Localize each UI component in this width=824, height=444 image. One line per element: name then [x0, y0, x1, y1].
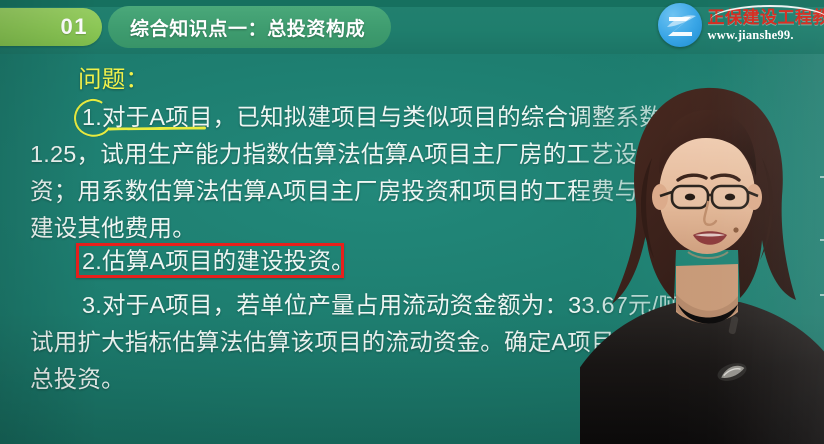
page-title: 综合知识点一：总投资构成: [130, 14, 365, 41]
question-label: 问题：: [78, 68, 149, 92]
presenter-light-shade: [580, 54, 824, 444]
video-edge-mark-2: [820, 239, 824, 241]
brand-logo[interactable]: 正保建设工程教 www.jianshe99.: [658, 3, 824, 47]
slide-header: 01 综合知识点一：总投资构成 正保建设工程教 www.jianshe99.: [0, 0, 824, 54]
red-box-annotation: [76, 243, 344, 278]
video-edge-mark-3: [820, 294, 824, 296]
section-number-badge: 01: [0, 8, 102, 46]
brand-url: www.jianshe99.: [708, 29, 824, 42]
lecture-slide-screen: 问题： 1.对于A项目，已知拟建项目与类似项目的综合调整系数为 1.25，试用生…: [0, 0, 824, 444]
section-number-text: 01: [61, 12, 88, 42]
question-line-4: 建设其他费用。: [30, 217, 196, 241]
question-line-8: 总投资。: [30, 368, 125, 392]
video-edge-mark-1: [820, 176, 824, 178]
zhengbao-z-icon: [658, 3, 702, 47]
section-title-plate: 综合知识点一：总投资构成: [108, 6, 391, 48]
presenter-video: [580, 54, 824, 444]
